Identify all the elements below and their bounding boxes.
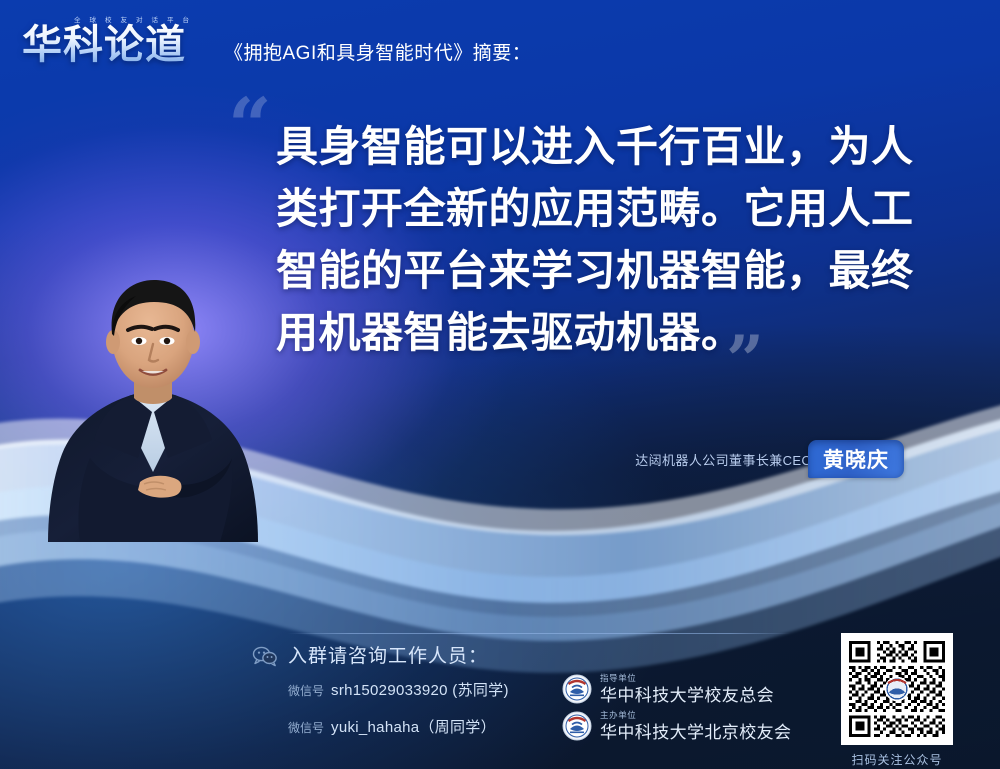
speaker-name: 黄晓庆: [823, 444, 889, 474]
speaker-role: 达闼机器人公司董事长兼CEO: [635, 450, 812, 469]
logo-wordmark: 华科论道: [22, 22, 186, 68]
header: 全 球 校 友 对 话 平 台 华科论道 《拥抱AGI和具身智能时代》摘要：: [0, 0, 1000, 92]
qr-code-image: [846, 638, 948, 740]
poster-canvas: 全 球 校 友 对 话 平 台 华科论道 《拥抱AGI和具身智能时代》摘要： “…: [0, 0, 1000, 769]
quote-open-mark: “: [228, 96, 272, 156]
university-seal-icon: [562, 674, 592, 704]
wechat-icon: [252, 645, 278, 667]
organization-name: 华中科技大学校友总会: [600, 681, 774, 706]
wechat-contact-row: 微信号yuki_hahaha（周同学）: [288, 716, 496, 737]
brand-logo: 全 球 校 友 对 话 平 台 华科论道: [22, 14, 214, 70]
organization-name: 华中科技大学北京校友会: [600, 718, 791, 743]
wechat-id[interactable]: srh15029033920 (苏同学): [331, 682, 509, 699]
qr-caption: 扫码关注公众号: [835, 751, 959, 768]
quote-close-mark: ”: [726, 330, 764, 390]
footer-divider: [288, 633, 791, 634]
quote-text: 具身智能可以进入千行百业，为人类打开全新的应用范畴。它用人工智能的平台来学习机器…: [276, 116, 936, 364]
contact-heading: 入群请咨询工作人员：: [288, 641, 488, 668]
speaker-name-badge: 黄晓庆: [808, 440, 904, 478]
qr-code[interactable]: [841, 633, 953, 745]
speaker-portrait: [28, 272, 278, 542]
attribution: 达闼机器人公司董事长兼CEO 黄晓庆: [600, 440, 920, 480]
wechat-label: 微信号: [288, 721, 324, 735]
wechat-label: 微信号: [288, 684, 324, 698]
page-title: 《拥抱AGI和具身智能时代》摘要：: [224, 38, 531, 65]
wechat-contact-row: 微信号srh15029033920 (苏同学): [288, 679, 509, 700]
university-seal-icon: [562, 711, 592, 741]
wechat-id[interactable]: yuki_hahaha（周同学）: [331, 719, 496, 736]
